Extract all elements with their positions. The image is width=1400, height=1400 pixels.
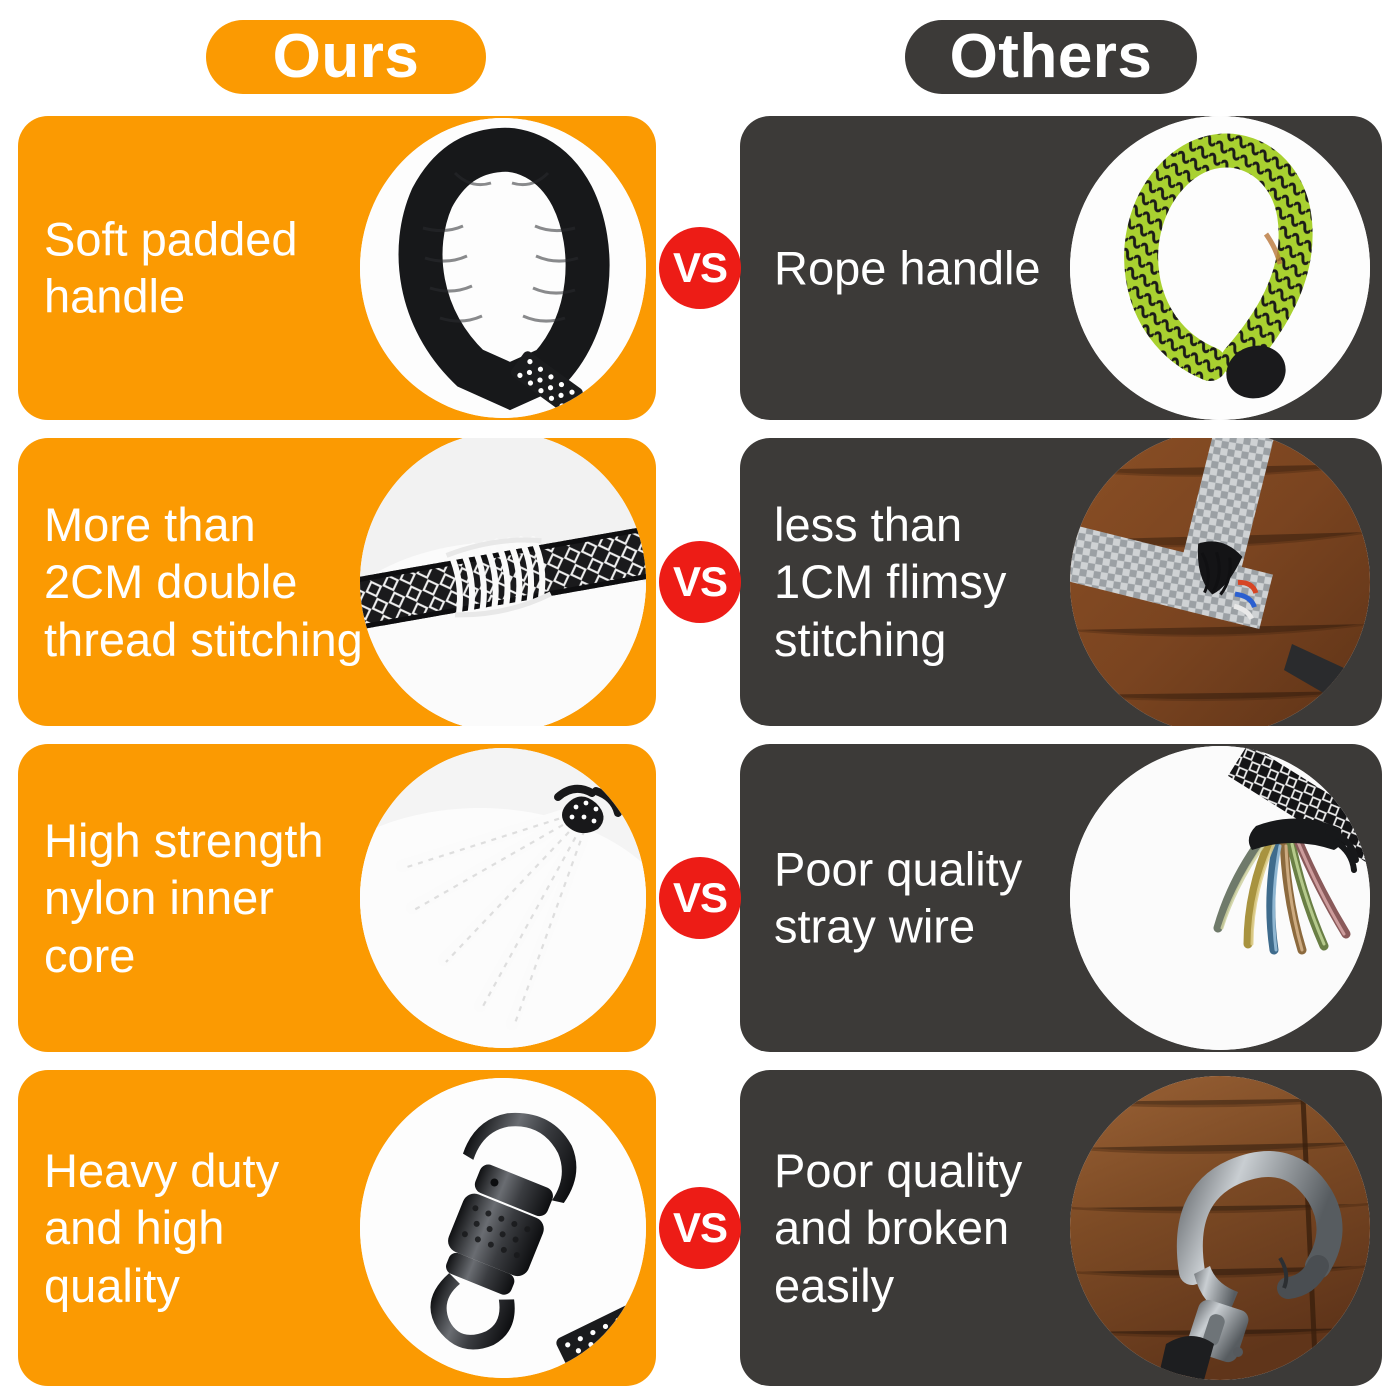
comparison-row: Heavy duty and high quality	[0, 1070, 1400, 1386]
others-feature-text: less than 1CM flimsy stitching	[774, 496, 1082, 668]
ours-feature-text: More than 2CM double thread stitching	[44, 496, 366, 668]
others-feature-text: Rope handle	[774, 239, 1082, 296]
others-card-row-4: Poor quality and broken easily	[740, 1070, 1382, 1386]
ours-feature-text: Soft padded handle	[44, 211, 366, 326]
padded-handle-photo	[360, 118, 646, 418]
ours-card-row-4: Heavy duty and high quality	[18, 1070, 656, 1386]
others-card-row-2: less than 1CM flimsy stitching	[740, 438, 1382, 726]
others-card-row-3: Poor quality stray wire	[740, 744, 1382, 1052]
double-stitching-photo	[360, 438, 646, 726]
nylon-core-photo	[360, 748, 646, 1048]
vs-badge: VS	[659, 857, 741, 939]
flimsy-stitching-photo	[1070, 438, 1370, 726]
others-feature-text: Poor quality stray wire	[774, 841, 1082, 956]
comparison-infographic: Ours Others Soft padded handle	[0, 0, 1400, 1400]
ours-feature-text: Heavy duty and high quality	[44, 1142, 366, 1314]
comparison-row: High strength nylon inner core	[0, 744, 1400, 1052]
comparison-row: More than 2CM double thread stitching	[0, 438, 1400, 726]
others-feature-text: Poor quality and broken easily	[774, 1142, 1082, 1314]
others-card-row-1: Rope handle	[740, 116, 1382, 420]
header-pill-ours: Ours	[206, 20, 486, 94]
heavy-duty-clasp-photo	[360, 1078, 646, 1378]
rope-handle-photo	[1070, 116, 1370, 420]
ours-feature-text: High strength nylon inner core	[44, 812, 366, 984]
broken-clasp-photo	[1070, 1076, 1370, 1380]
ours-card-row-2: More than 2CM double thread stitching	[18, 438, 656, 726]
ours-card-row-1: Soft padded handle	[18, 116, 656, 420]
stray-wire-photo	[1070, 746, 1370, 1050]
vs-badge: VS	[659, 541, 741, 623]
vs-badge: VS	[659, 227, 741, 309]
vs-badge: VS	[659, 1187, 741, 1269]
comparison-row: Soft padded handle	[0, 116, 1400, 420]
header-pill-others: Others	[905, 20, 1197, 94]
ours-card-row-3: High strength nylon inner core	[18, 744, 656, 1052]
